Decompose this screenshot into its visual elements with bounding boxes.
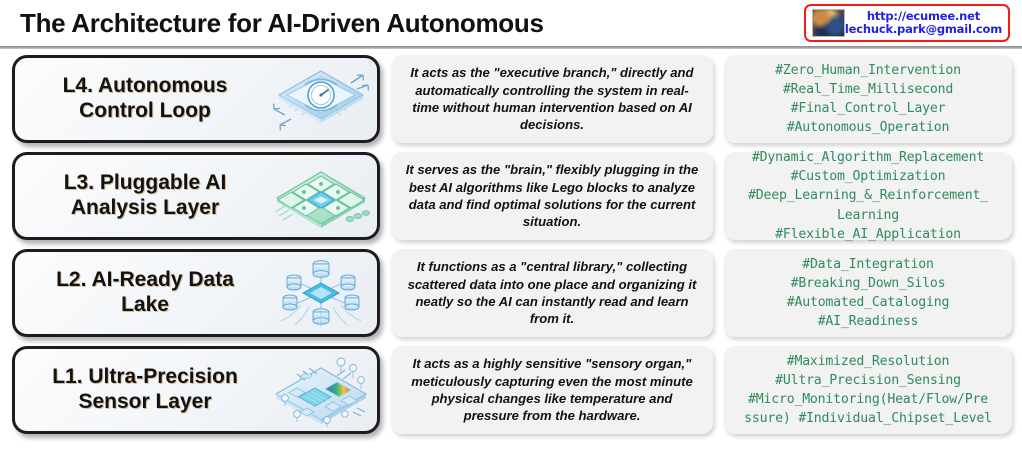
tags-panel-l3: #Dynamic_Algorithm_Replacement #Custom_O… (724, 152, 1012, 240)
tags-panel-l4: #Zero_Human_Intervention #Real_Time_Mill… (724, 55, 1012, 143)
layer-label-l3-line2: Analysis Layer (71, 196, 219, 219)
contact-badge-text: http://ecumee.net lechuck.park@gmail.com (845, 10, 1004, 36)
description-panel-l2: It functions as a "central library," col… (391, 249, 713, 337)
layer-label-l2-line1: L2. AI-Ready Data (56, 268, 234, 291)
layer-card-l2[interactable]: L2. AI-Ready Data Lake (12, 249, 380, 337)
data-lake-database-hub-icon (269, 251, 373, 335)
layer-card-l3[interactable]: L3. Pluggable AI Analysis Layer (12, 152, 380, 240)
layer-label-l1-line1: L1. Ultra-Precision (52, 365, 238, 388)
description-panel-l4: It acts as the "executive branch," direc… (391, 55, 713, 143)
description-text-l1: It acts as a highly sensitive "sensory o… (403, 355, 701, 424)
layer-label-l1: L1. Ultra-Precision Sensor Layer (15, 365, 269, 415)
page-title: The Architecture for AI-Driven Autonomou… (20, 8, 544, 39)
layer-row-l1: L1. Ultra-Precision Sensor Layer (0, 346, 1022, 434)
profile-thumbnail-icon (812, 9, 845, 37)
tags-text-l2: #Data_Integration #Breaking_Down_Silos #… (787, 255, 950, 332)
contact-email[interactable]: lechuck.park@gmail.com (845, 23, 1002, 36)
layer-label-l4: L4. Autonomous Control Loop (15, 74, 269, 124)
contact-badge[interactable]: http://ecumee.net lechuck.park@gmail.com (804, 4, 1010, 42)
sensor-circuit-board-icon (269, 348, 373, 432)
layer-label-l2: L2. AI-Ready Data Lake (15, 268, 269, 318)
description-text-l2: It functions as a "central library," col… (403, 258, 701, 327)
header-divider (0, 46, 1022, 49)
description-text-l3: It serves as the "brain," flexibly plugg… (403, 161, 701, 230)
layer-row-l4: L4. Autonomous Control Loop (0, 55, 1022, 143)
control-loop-chip-icon (269, 57, 373, 141)
description-panel-l3: It serves as the "brain," flexibly plugg… (391, 152, 713, 240)
tags-panel-l1: #Maximized_Resolution #Ultra_Precision_S… (724, 346, 1012, 434)
layer-label-l4-line1: L4. Autonomous (63, 74, 228, 97)
layer-label-l2-line2: Lake (121, 293, 169, 316)
layer-label-l3-line1: L3. Pluggable AI (64, 171, 227, 194)
description-panel-l1: It acts as a highly sensitive "sensory o… (391, 346, 713, 434)
pluggable-modules-grid-icon (269, 154, 373, 238)
layer-row-l2: L2. AI-Ready Data Lake (0, 249, 1022, 337)
layer-label-l1-line2: Sensor Layer (78, 390, 211, 413)
layer-label-l3: L3. Pluggable AI Analysis Layer (15, 171, 269, 221)
tags-text-l4: #Zero_Human_Intervention #Real_Time_Mill… (775, 61, 961, 138)
layer-rows: L4. Autonomous Control Loop (0, 55, 1022, 443)
layer-row-l3: L3. Pluggable AI Analysis Layer (0, 152, 1022, 240)
layer-label-l4-line2: Control Loop (79, 99, 211, 122)
tags-text-l1: #Maximized_Resolution #Ultra_Precision_S… (744, 352, 992, 429)
description-text-l4: It acts as the "executive branch," direc… (403, 64, 701, 133)
page-header: The Architecture for AI-Driven Autonomou… (0, 0, 1022, 48)
tags-panel-l2: #Data_Integration #Breaking_Down_Silos #… (724, 249, 1012, 337)
layer-card-l1[interactable]: L1. Ultra-Precision Sensor Layer (12, 346, 380, 434)
layer-card-l4[interactable]: L4. Autonomous Control Loop (12, 55, 380, 143)
tags-text-l3: #Dynamic_Algorithm_Replacement #Custom_O… (748, 148, 988, 244)
